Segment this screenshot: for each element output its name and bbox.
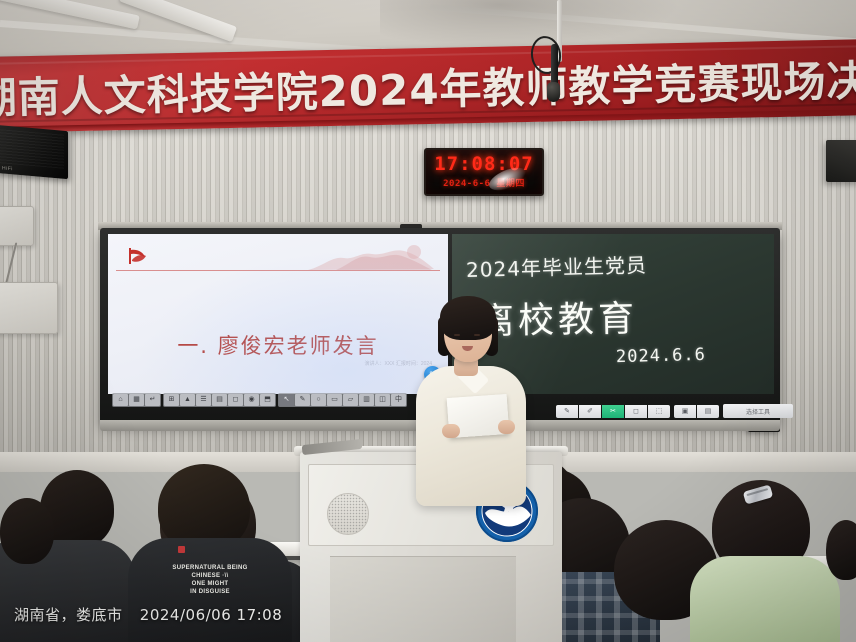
speaker-hand (442, 424, 460, 438)
toolbar-group-pens[interactable]: ✎ ✐ ✂ ◻ ⬚ (556, 405, 670, 418)
toolbar-group-3[interactable]: ↖ ✎ ○ ▭ ▱ ▥ ◫ 中 (278, 393, 407, 407)
speaker-eye (474, 334, 480, 336)
speaker-brand-label: HiFi (2, 165, 13, 172)
toolbar-button-active[interactable]: ✂ (602, 405, 624, 418)
toolbar-button[interactable]: ▲ (180, 394, 195, 406)
toolbar-button[interactable]: 中 (391, 394, 406, 406)
wall-control-box (0, 206, 34, 246)
toolbar-button[interactable]: ▥ (359, 394, 374, 406)
toolbar-button[interactable]: ⌂ (113, 394, 128, 406)
chalk-date: 2024.6.6 (616, 345, 706, 367)
toolbar-group-2[interactable]: ⊞ ▲ ☰ ▤ ◻ ◉ ⬒ (163, 393, 276, 407)
speaker-hand (498, 420, 515, 434)
toolbar-button[interactable]: ▣ (674, 405, 696, 418)
blackboard-toolbar-right[interactable]: ✎ ✐ ✂ ◻ ⬚ ▣ ▤ 选择工具 (556, 404, 793, 418)
chalk-line-1: 2024年毕业生党员 (466, 246, 757, 283)
slide-footnote: 演讲人：XXX 汇报时间：2024 (364, 361, 432, 369)
audience-torso-green (690, 556, 840, 642)
audience-head (0, 498, 54, 564)
toolbar-wide-button[interactable]: 选择工具 (723, 404, 793, 418)
toolbar-button[interactable]: ○ (311, 394, 326, 406)
wall-electrical-panel (0, 282, 58, 334)
toolbar-button[interactable]: ▭ (327, 394, 342, 406)
toolbar-button[interactable]: ✎ (556, 405, 578, 418)
toolbar-button[interactable]: ◫ (375, 394, 390, 406)
toolbar-button[interactable]: ◻ (228, 394, 243, 406)
podium-speaker-grille-icon (327, 493, 369, 535)
cpc-party-emblem-icon (126, 244, 150, 268)
toolbar-button[interactable]: ⬒ (260, 394, 275, 406)
watermark-location: 湖南省，娄底市 (14, 606, 123, 624)
toolbar-button[interactable]: ↵ (145, 394, 160, 406)
slide-title: 一. 廖俊宏老师发言 (108, 330, 448, 360)
toolbar-button[interactable]: ☰ (196, 394, 211, 406)
microphone-head-icon (547, 82, 560, 102)
audience-torso-black-tshirt: SUPERNATURAL BEING CHINESE ·\\ ONE MIGHT… (128, 538, 292, 642)
podium-lower-body (330, 556, 516, 642)
toolbar-group-1[interactable]: ⌂ ▦ ↵ (112, 393, 161, 407)
wall-speaker-right (826, 140, 856, 182)
toolbar-button[interactable]: ▤ (212, 394, 227, 406)
speaker-eye (454, 334, 460, 336)
chalk-line-2: 离校教育 (478, 288, 759, 345)
toolbar-button[interactable]: ▦ (129, 394, 144, 406)
watermark-datetime: 2024/06/06 17:08 (140, 606, 282, 624)
toolbar-button[interactable]: ◻ (625, 405, 647, 418)
classroom-photo-scene: 湖南人文科技学院2024年教师教学竞赛现场决 HiFi 17:08:07 202… (0, 0, 856, 642)
led-wall-clock: 17:08:07 2024-6-6 星期四 (424, 148, 544, 196)
slide-divider (116, 270, 440, 271)
toolbar-button[interactable]: ⊞ (164, 394, 179, 406)
tshirt-print-text: SUPERNATURAL BEING CHINESE ·\\ ONE MIGHT… (128, 564, 292, 596)
toolbar-button[interactable]: ✐ (579, 405, 601, 418)
tshirt-logo-icon (178, 546, 185, 553)
wall-speaker-left: HiFi (0, 125, 68, 179)
red-mountain-ornament-icon (306, 242, 436, 272)
projection-screen-left[interactable]: 一. 廖俊宏老师发言 演讲人：XXX 汇报时间：2024 (108, 234, 448, 394)
ceiling-shadow (380, 0, 680, 48)
toolbar-group-extra[interactable]: ▣ ▤ (674, 405, 719, 418)
speaker-grille (0, 129, 64, 169)
toolbar-button[interactable]: ▱ (343, 394, 358, 406)
toolbar-button[interactable]: ⬚ (648, 405, 670, 418)
audience-head (826, 520, 856, 580)
photo-watermark: 湖南省，娄底市 2024/06/06 17:08 (14, 604, 282, 625)
whiteboard-toolbar-left[interactable]: ⌂ ▦ ↵ ⊞ ▲ ☰ ▤ ◻ ◉ ⬒ ↖ ✎ ○ ▭ ▱ ▥ ◫ 中 (112, 392, 380, 407)
toolbar-button[interactable]: ↖ (279, 394, 294, 406)
toolbar-button[interactable]: ✎ (295, 394, 310, 406)
toolbar-button[interactable]: ▤ (697, 405, 719, 418)
speaker-hair (440, 296, 496, 340)
toolbar-button[interactable]: ◉ (244, 394, 259, 406)
